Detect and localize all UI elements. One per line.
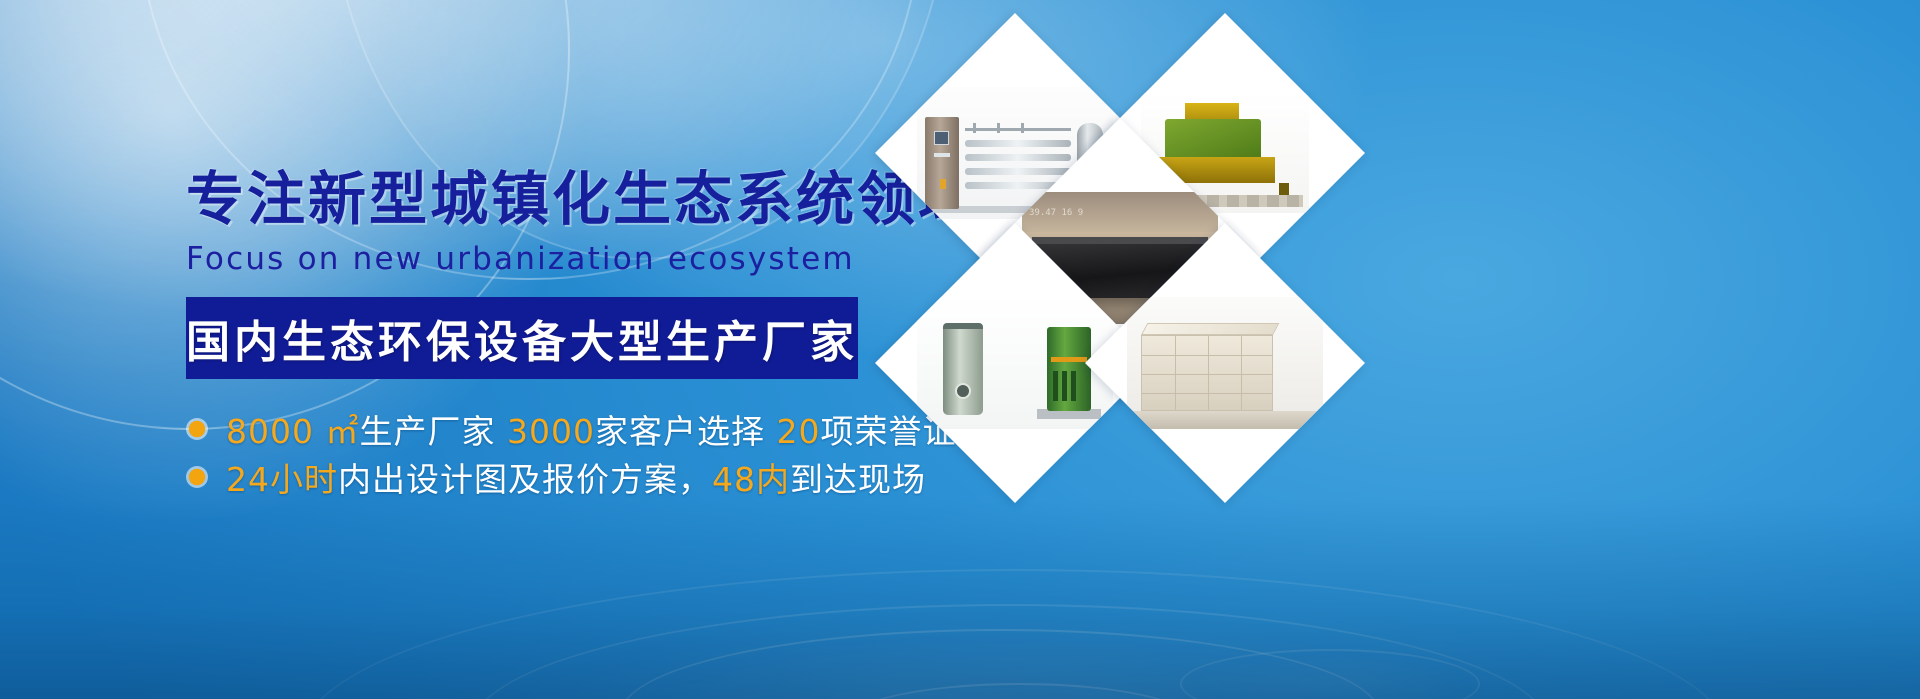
text-segment-0: 24小时 [226, 460, 338, 499]
text-segment-3: 到达现场 [790, 460, 926, 499]
photo-timestamp: 39.47 16 9 [1029, 208, 1083, 219]
photo-integrated-pump-station [917, 297, 1113, 429]
headline: 专注新型城镇化生态系统领域 [186, 168, 906, 231]
text-segment-4: 20 [776, 412, 820, 451]
text-segment-2: 3000 [507, 412, 595, 451]
ribbon-banner: 国内生态环保设备大型生产厂家 [186, 297, 858, 379]
text-segment-1: 内出设计图及报价方案， [338, 460, 712, 499]
bullet-list: 8000 ㎡生产厂家 3000家客户选择 20项荣誉证书 24小时内出设计图及报… [186, 405, 906, 501]
photo-aac-blocks [1127, 297, 1323, 429]
bullet-dot-icon [186, 418, 208, 440]
subheadline: Focus on new urbanization ecosystem [186, 241, 906, 277]
bullet-text-2: 24小时内出设计图及报价方案，48内到达现场 [226, 453, 926, 501]
diamond-photo-grid: 39.47 16 9 [916, 54, 1336, 474]
list-item: 24小时内出设计图及报价方案，48内到达现场 [186, 453, 906, 501]
bullet-text-1: 8000 ㎡生产厂家 3000家客户选择 20项荣誉证书 [226, 405, 990, 453]
banner-copy: 专注新型城镇化生态系统领域 Focus on new urbanization … [186, 168, 906, 501]
bottom-vignette [0, 499, 1920, 699]
text-segment-2: 48内 [712, 460, 790, 499]
text-segment-3: 家客户选择 [595, 412, 777, 451]
promo-banner: 专注新型城镇化生态系统领域 Focus on new urbanization … [0, 0, 1920, 699]
bullet-dot-icon [186, 466, 208, 488]
text-segment-1: 生产厂家 [359, 412, 507, 451]
text-segment-0: 8000 ㎡ [226, 412, 359, 451]
list-item: 8000 ㎡生产厂家 3000家客户选择 20项荣誉证书 [186, 405, 906, 453]
ribbon-text: 国内生态环保设备大型生产厂家 [186, 306, 858, 370]
